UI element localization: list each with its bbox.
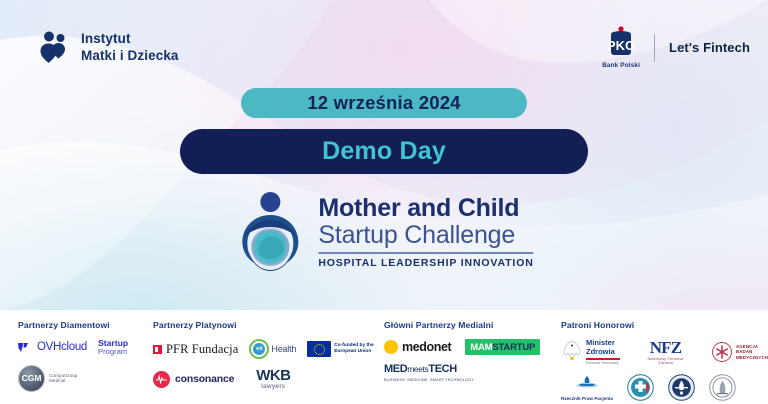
banner-header: Instytut Matki i Dziecka PKO Bank Polski… [0,0,768,96]
logo-row: MEDmeetsTECH BUSINESS. MEDICINE. SMART T… [384,364,555,382]
startup-program-label: Startup Program [98,339,128,356]
nfz-label: NFZ [640,339,691,356]
eu-flag-icon [307,341,331,357]
partner-column-platinum: Partnerzy Platynowi PFR Fundacja eit Hea… [145,320,380,404]
eit-core-label: eit [253,343,265,355]
seal-gray-icon[interactable] [709,374,736,401]
column-title-platinum: Partnerzy Platynowi [153,320,380,330]
eit-health-label: Health [271,344,296,354]
partner-logo-pfr-fundacja[interactable]: PFR Fundacja [153,342,238,357]
rzecznik-icon [574,375,600,390]
partner-logo-nfz[interactable]: NFZ Narodowy Fundusz Zdrowia [640,339,691,365]
partner-column-diamond: Partnerzy Diamentowi OVHcloud Startup Pr… [0,320,145,404]
partner-logo-ovhcloud[interactable]: OVHcloud [18,341,87,353]
medmeetstech-tagline: BUSINESS. MEDICINE. SMART TECHNOLOGY. [384,377,475,382]
wkb-label: WKB [256,368,290,383]
consonance-icon [153,371,170,388]
date-badge-label: 12 września 2024 [307,92,460,114]
medonet-icon [384,340,398,354]
seal-navy-icon[interactable] [668,374,695,401]
logo-line-1: Mother and Child [318,195,533,222]
partner-logo-medonet[interactable]: medonet [384,340,451,354]
mother-child-startup-challenge-logo[interactable]: Mother and Child Startup Challenge HOSPI… [234,189,533,275]
nfz-sublabel: Narodowy Fundusz Zdrowia [640,357,691,365]
logo-row: Minister Zdrowia Patronat Honorowy NFZ N… [561,339,768,365]
logo-rule [318,252,533,254]
cgm-line-2: Medical [49,378,78,383]
lets-fintech-label: Let's Fintech [669,40,750,55]
partner-logo-wkb-lawyers[interactable]: WKB lawyers [256,368,290,391]
abm-label: AGENCJA BADAŃ MEDYCZNYCH [736,344,768,361]
logo-row: CGM CompuGroup Medical [18,365,145,392]
eu-funding-label: Co-funded by the European Union [334,343,373,355]
partner-logo-eit-health[interactable]: eit Health [249,339,296,359]
parent-child-heart-icon [38,30,72,64]
logo-tagline: HOSPITAL LEADERSHIP INNOVATION [318,257,533,269]
medmeetstech-label: MEDmeetsTECH [384,364,475,375]
institute-name: Instytut Matki i Dziecka [81,30,179,65]
partner-logo-minister-zdrowia[interactable]: Minister Zdrowia Patronat Honorowy [561,339,620,364]
partner-logo-medmeetstech[interactable]: MEDmeetsTECH BUSINESS. MEDICINE. SMART T… [384,364,475,382]
partners-footer: Partnerzy Diamentowi OVHcloud Startup Pr… [0,310,768,404]
logo-row: consonance WKB lawyers [153,368,380,391]
date-badge: 12 września 2024 [241,88,527,118]
consonance-label: consonance [175,373,234,385]
bank-name: Bank Polski [602,62,640,69]
demo-day-label: Demo Day [322,137,446,166]
pko-logo-icon: PKO [607,26,635,60]
partner-logo-cgm[interactable]: CGM CompuGroup Medical [18,365,78,392]
eit-health-icon: eit [249,339,269,359]
rzecznik-label: Rzecznik Praw Pacjenta [561,396,613,401]
minister-rule [586,358,620,359]
pfr-icon [153,345,162,354]
minister-sublabel: Patronat Honorowy [586,361,620,365]
wkb-sublabel: lawyers [256,384,290,391]
logo-wordmark: Mother and Child Startup Challenge HOSPI… [318,195,533,269]
partner-logo-european-union[interactable]: Co-funded by the European Union [307,341,373,357]
demo-day-badge: Demo Day [180,129,588,174]
column-title-diamond: Partnerzy Diamentowi [18,320,145,330]
seal-medical-cross-icon[interactable] [627,374,654,401]
column-title-media: Główni Partnerzy Medialni [384,320,555,330]
svg-text:PKO: PKO [607,38,635,53]
ovhcloud-label: OVHcloud [37,341,87,353]
pfr-label: PFR Fundacja [166,342,238,357]
institute-logo[interactable]: Instytut Matki i Dziecka [38,30,179,65]
startup-word: STARTUP [492,342,535,353]
cgm-icon: CGM [18,365,45,392]
mam-word: MAM [470,342,492,353]
logo-row: Rzecznik Praw Pacjenta [561,374,768,401]
mother-child-circle-icon [234,189,306,275]
logo-row: OVHcloud Startup Program [18,339,145,356]
abm-icon [711,341,733,363]
partner-column-honorary: Patroni Honorowi Minister Zdrowia Patron… [555,320,768,404]
medonet-label: medonet [402,340,451,354]
polish-eagle-icon [561,339,583,361]
logo-row: PFR Fundacja eit Health Co-funded by the… [153,339,380,359]
ovhcloud-icon [18,342,33,353]
event-banner: Instytut Matki i Dziecka PKO Bank Polski… [0,0,768,404]
partner-logo-mamstartup[interactable]: MAMSTARTUP [465,339,540,355]
logo-line-2: Startup Challenge [318,222,533,249]
partner-logo-agencja-badan-medycznych[interactable]: AGENCJA BADAŃ MEDYCZNYCH [711,341,768,363]
column-title-honorary: Patroni Honorowi [561,320,768,330]
program-word: Program [98,348,128,356]
partner-logo-rzecznik-praw-pacjenta[interactable]: Rzecznik Praw Pacjenta [561,375,613,401]
minister-zdrowia-label: Minister Zdrowia [586,339,620,356]
partner-column-media: Główni Partnerzy Medialni medonet MAMSTA… [380,320,555,404]
cgm-caption: CompuGroup Medical [49,373,78,384]
pko-logo[interactable]: PKO Bank Polski [602,26,640,69]
header-divider [654,34,655,62]
bank-partner-block[interactable]: PKO Bank Polski Let's Fintech [602,26,750,69]
logo-row: medonet MAMSTARTUP [384,339,555,355]
partner-logo-consonance[interactable]: consonance [153,371,234,388]
